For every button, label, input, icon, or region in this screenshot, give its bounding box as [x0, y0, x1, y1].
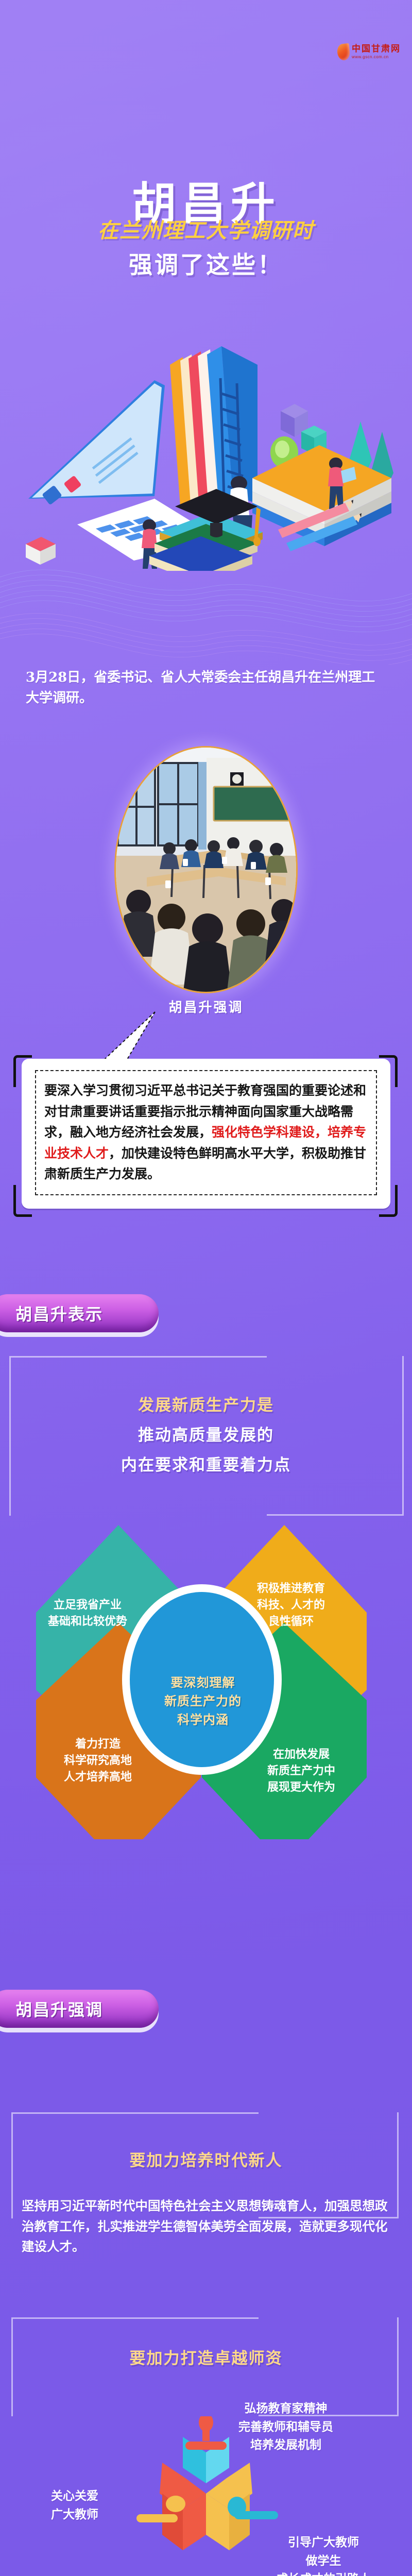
site-logo: 中国甘肃网 www.gscn.com.cn	[337, 44, 401, 60]
quote-card: 要深入学习贯彻习近平总书记关于教育强国的重要论述和对甘肃重要讲话重要指示批示精神…	[22, 1059, 390, 1209]
point2-title: 要加力打造卓越师资	[0, 2345, 412, 2368]
brand-text: 中国甘肃网 www.gscn.com.cn	[352, 45, 401, 59]
brand-name: 中国甘肃网	[352, 45, 401, 54]
point1-body: 坚持用习近平新时代中国特色社会主义思想铸魂育人，加强思想政治教育工作，扎实推进学…	[22, 2196, 390, 2257]
meeting-room-photo	[114, 746, 298, 993]
intro-paragraph: 3月28日，省委书记、省人大常委会主任胡昌升在兰州理工大学调研。	[26, 667, 386, 709]
wave-decoration	[0, 546, 412, 665]
hero-subtitle: 在兰州理工大学调研时	[0, 214, 412, 244]
diamond-text-bottom-right: 在加快发展 新质生产力中 展现更大作为	[237, 1747, 366, 1796]
section-pill-statement-label: 胡昌升表示	[15, 1301, 103, 1325]
statement-headline-yellow: 发展新质生产力是	[0, 1392, 412, 1415]
point2-note-right-bottom: 引导广大教师 做学生 成长成才的引路人	[246, 2534, 401, 2576]
diamond-text-bottom-left: 着力打造 科学研究高地 人才培养高地	[31, 1736, 165, 1786]
point2-note-left: 关心关爱 广大教师	[15, 2487, 134, 2524]
hero-emphasis: 强调了这些！	[0, 246, 412, 280]
diamond-text-top-right: 积极推进教育 科技、人才的 良性循环	[227, 1581, 355, 1630]
section-pill-emphasis: 胡昌升强调	[0, 1990, 159, 2028]
quote-dashed-frame: 要深入学习贯彻习近平总书记关于教育强国的重要论述和对甘肃重要讲话重要指示批示精神…	[35, 1070, 377, 1195]
section-pill-emphasis-label: 胡昌升强调	[15, 1997, 103, 2021]
section-pill-statement: 胡昌升表示	[0, 1294, 159, 1332]
speech-pointer-icon	[90, 1010, 157, 1061]
diamond-text-top-left: 立足我省产业 基础和比较优势	[21, 1597, 154, 1630]
point1-title: 要加力培养时代新人	[0, 2147, 412, 2171]
isometric-education-illustration	[0, 282, 412, 571]
quote-speaker-label: 胡昌升强调	[0, 997, 412, 1016]
statement-headline-white-2: 内在要求和重要着力点	[0, 1452, 412, 1475]
quote-text: 要深入学习贯彻习近平总书记关于教育强国的重要论述和对甘肃重要讲话重要指示批示精神…	[44, 1080, 368, 1185]
diamond-core-text: 要深刻理解 新质生产力的 科学内涵	[140, 1673, 266, 1729]
infographic-page: 中国甘肃网 www.gscn.com.cn 胡昌升 在兰州理工大学调研时 强调了…	[0, 0, 412, 2576]
flame-logo-icon	[336, 43, 350, 61]
statement-headline-white-1: 推动高质量发展的	[0, 1422, 412, 1445]
brand-url: www.gscn.com.cn	[352, 55, 401, 59]
